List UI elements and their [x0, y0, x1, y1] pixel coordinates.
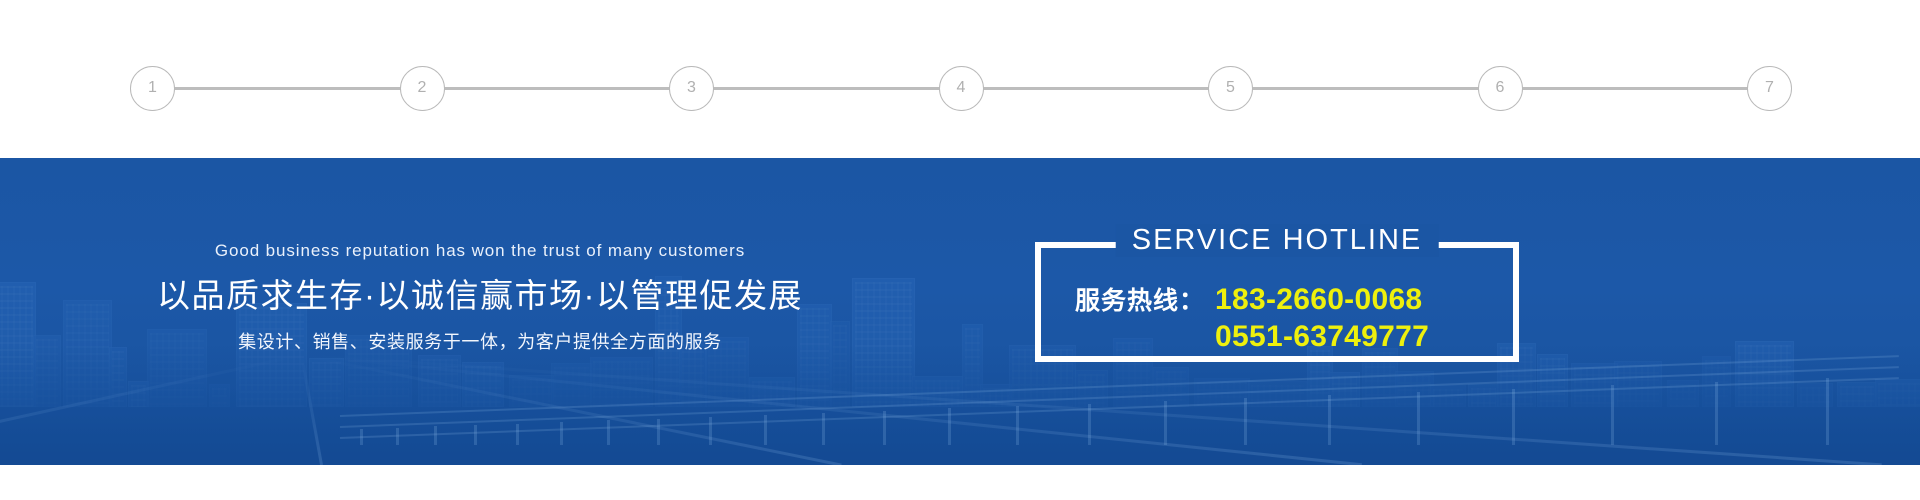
- bottom-white-strip: [0, 465, 1920, 500]
- stepper-band: 1 2 3 4 5 6 7: [0, 0, 1920, 158]
- page-root: 1 2 3 4 5 6 7: [0, 0, 1920, 500]
- slogan-english: Good business reputation has won the tru…: [0, 242, 960, 259]
- step-number-label: 1: [148, 80, 157, 96]
- step-number-label: 7: [1765, 80, 1774, 96]
- step-number-label: 6: [1496, 80, 1505, 96]
- step-number-label: 5: [1226, 80, 1235, 96]
- hotline-title: SERVICE HOTLINE: [1116, 224, 1439, 257]
- hotline-phone-primary[interactable]: 183-2660-0068: [1215, 282, 1422, 319]
- slogan-chinese-sub: 集设计、销售、安装服务于一体，为客户提供全方面的服务: [0, 333, 960, 351]
- hotline-row-primary: 服务热线： 183-2660-0068: [1075, 282, 1487, 319]
- step-connector-6-7: [1522, 87, 1749, 90]
- hotline-phone-secondary[interactable]: 0551-63749777: [1215, 319, 1429, 356]
- slogan-chinese-main: 以品质求生存·以诚信赢市场·以管理促发展: [0, 278, 960, 315]
- step-node-1[interactable]: 1: [130, 66, 175, 111]
- step-node-3[interactable]: 3: [669, 66, 714, 111]
- step-node-7[interactable]: 7: [1747, 66, 1792, 111]
- step-node-2[interactable]: 2: [400, 66, 445, 111]
- highway-foreground: [0, 345, 1920, 465]
- step-connector-5-6: [1252, 87, 1479, 90]
- hotline-row-secondary: 0551-63749777: [1075, 319, 1487, 356]
- step-connector-4-5: [983, 87, 1210, 90]
- step-number-label: 3: [687, 80, 696, 96]
- step-number-label: 4: [957, 80, 966, 96]
- step-node-6[interactable]: 6: [1478, 66, 1523, 111]
- step-indicator: 1 2 3 4 5 6 7: [130, 65, 1792, 111]
- hero-banner: Good business reputation has won the tru…: [0, 158, 1920, 465]
- step-number-label: 2: [418, 80, 427, 96]
- slogan-block: Good business reputation has won the tru…: [0, 242, 960, 351]
- hotline-label: 服务热线：: [1075, 286, 1215, 317]
- step-connector-1-2: [174, 87, 401, 90]
- step-node-5[interactable]: 5: [1208, 66, 1253, 111]
- step-node-4[interactable]: 4: [939, 66, 984, 111]
- step-connector-2-3: [444, 87, 671, 90]
- step-connector-3-4: [713, 87, 940, 90]
- hotline-rows: 服务热线： 183-2660-0068 0551-63749777: [1041, 282, 1513, 355]
- service-hotline-box: SERVICE HOTLINE 服务热线： 183-2660-0068 0551…: [1035, 242, 1519, 362]
